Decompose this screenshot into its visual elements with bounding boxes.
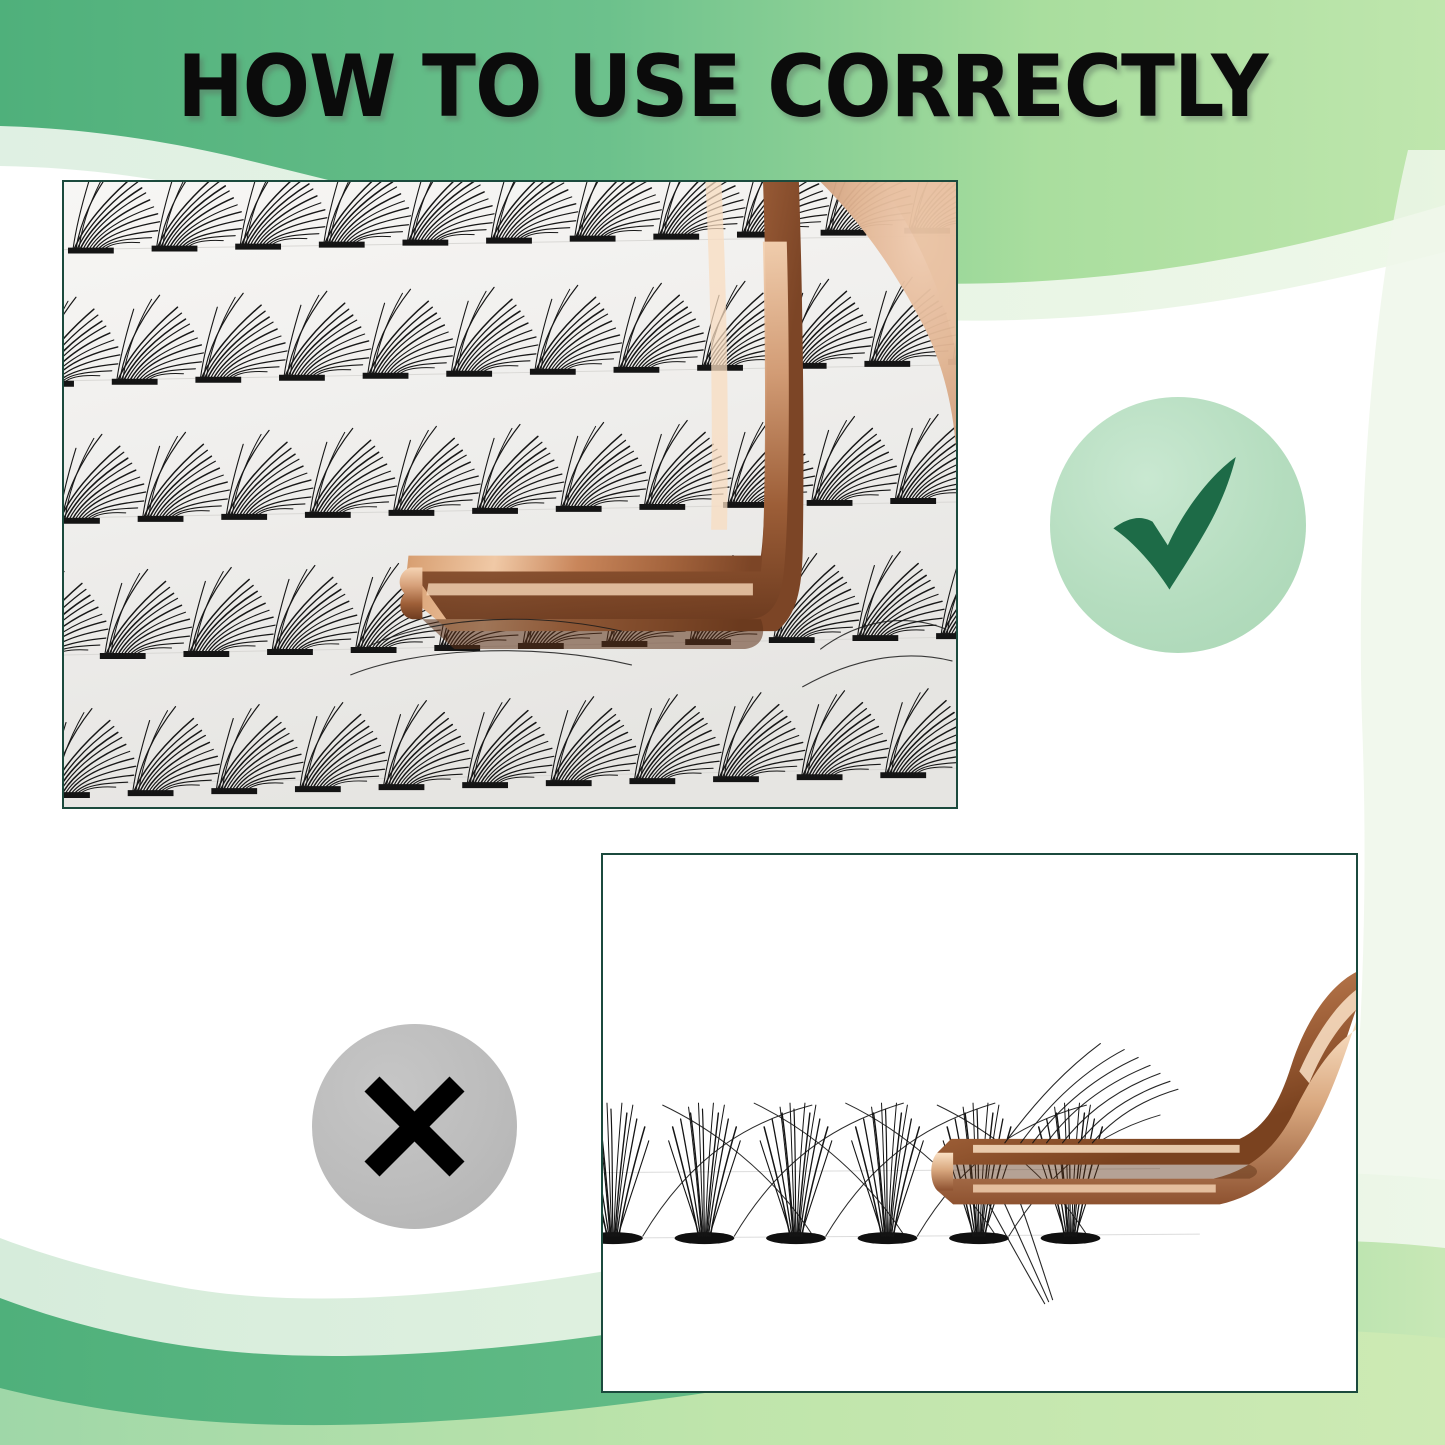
status-badge-incorrect [312, 1024, 517, 1229]
close-icon [352, 1064, 477, 1189]
lash-row-incorrect-grip-image [603, 855, 1356, 1391]
status-badge-correct [1050, 397, 1306, 653]
page-title: HOW TO USE CORRECTLY [58, 44, 1387, 130]
instructional-graphic: HOW TO USE CORRECTLY [0, 0, 1445, 1445]
check-icon [1093, 440, 1263, 610]
lash-tray-correct-grip-image [64, 182, 956, 807]
correct-usage-photo [62, 180, 958, 809]
incorrect-usage-photo [601, 853, 1358, 1393]
